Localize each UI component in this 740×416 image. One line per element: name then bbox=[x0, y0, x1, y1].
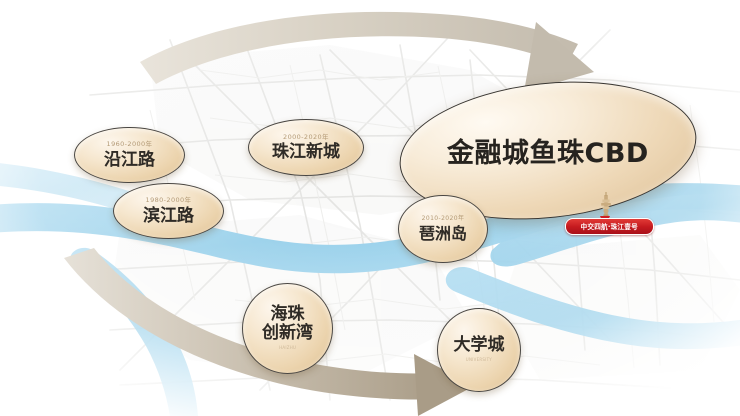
node-era-label: 1980-2000年 bbox=[146, 197, 192, 204]
node-yanjiang-lu[interactable]: 1960-2000年 沿江路 bbox=[74, 127, 185, 183]
node-haizhu-chuangxinwan[interactable]: 海珠 创新湾 HAIZHU bbox=[242, 283, 333, 374]
node-era-label: 1960-2000年 bbox=[107, 141, 153, 148]
node-name-label: 沿江路 bbox=[104, 151, 155, 169]
node-micro-label: UNIVERSITY bbox=[466, 360, 492, 364]
hero-node-label: 金融城鱼珠CBD bbox=[447, 131, 649, 170]
node-name-label: 琶洲岛 bbox=[419, 225, 467, 242]
node-binjiang-lu[interactable]: 1980-2000年 滨江路 bbox=[113, 183, 224, 239]
node-name-label: 珠江新城 bbox=[272, 143, 340, 161]
project-badge-label: 中交四航·珠江壹号 bbox=[581, 222, 638, 232]
node-era-label: 2010-2020年 bbox=[422, 216, 465, 222]
node-name-label: 大学城 bbox=[454, 336, 505, 354]
node-zhujiang-xincheng[interactable]: 2000-2020年 珠江新城 bbox=[248, 119, 364, 176]
node-name-label: 滨江路 bbox=[143, 207, 194, 225]
map-background bbox=[0, 0, 740, 416]
node-daxuecheng[interactable]: 大学城 UNIVERSITY bbox=[437, 308, 521, 392]
project-badge[interactable]: 中交四航·珠江壹号 bbox=[565, 218, 654, 235]
node-name-label: 海珠 创新湾 bbox=[262, 305, 313, 342]
infographic-canvas: 金融城鱼珠CBD 中交四航·珠江壹号 1960-2000年 沿江路 1980-2… bbox=[0, 0, 740, 416]
node-micro-label: HAIZHU bbox=[279, 347, 296, 351]
map-vector bbox=[0, 0, 740, 416]
node-pazhou-dao[interactable]: 2010-2020年 琶洲岛 bbox=[398, 195, 488, 263]
node-era-label: 2000-2020年 bbox=[283, 134, 329, 141]
